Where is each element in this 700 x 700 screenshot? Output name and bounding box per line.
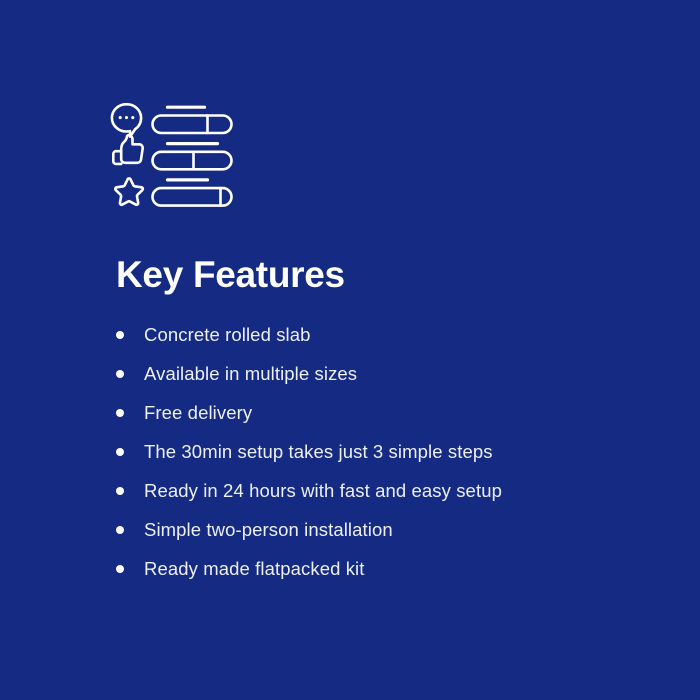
list-item-label: Ready made flatpacked kit: [144, 556, 636, 582]
bullet-icon: [116, 487, 124, 495]
list-item-label: The 30min setup takes just 3 simple step…: [144, 439, 636, 465]
list-item-label: Free delivery: [144, 400, 636, 426]
bullet-icon: [116, 409, 124, 417]
list-item-label: Ready in 24 hours with fast and easy set…: [144, 478, 636, 504]
list-item: Free delivery: [116, 400, 636, 439]
progress-bar-1: [153, 107, 232, 133]
list-item: Simple two-person installation: [116, 517, 636, 556]
bullet-icon: [116, 448, 124, 456]
list-item-label: Simple two-person installation: [144, 517, 636, 543]
speech-bubble-dots-icon: [112, 104, 141, 136]
list-item: Concrete rolled slab: [116, 322, 636, 361]
thumbs-up-icon: [113, 135, 142, 164]
progress-bar-3: [153, 180, 232, 206]
key-features-card: Key Features Concrete rolled slab Availa…: [0, 0, 700, 700]
list-item: Available in multiple sizes: [116, 361, 636, 400]
page-title: Key Features: [116, 252, 345, 298]
bullet-icon: [116, 526, 124, 534]
bullet-icon: [116, 565, 124, 573]
feature-list: Concrete rolled slab Available in multip…: [116, 322, 636, 595]
bullet-icon: [116, 331, 124, 339]
bullet-icon: [116, 370, 124, 378]
star-icon: [115, 178, 143, 204]
list-item: Ready in 24 hours with fast and easy set…: [116, 478, 636, 517]
list-item-label: Concrete rolled slab: [144, 322, 636, 348]
list-item: Ready made flatpacked kit: [116, 556, 636, 595]
progress-bar-2: [153, 144, 232, 170]
list-item: The 30min setup takes just 3 simple step…: [116, 439, 636, 478]
list-item-label: Available in multiple sizes: [144, 361, 636, 387]
feature-list-icon: [108, 100, 234, 216]
